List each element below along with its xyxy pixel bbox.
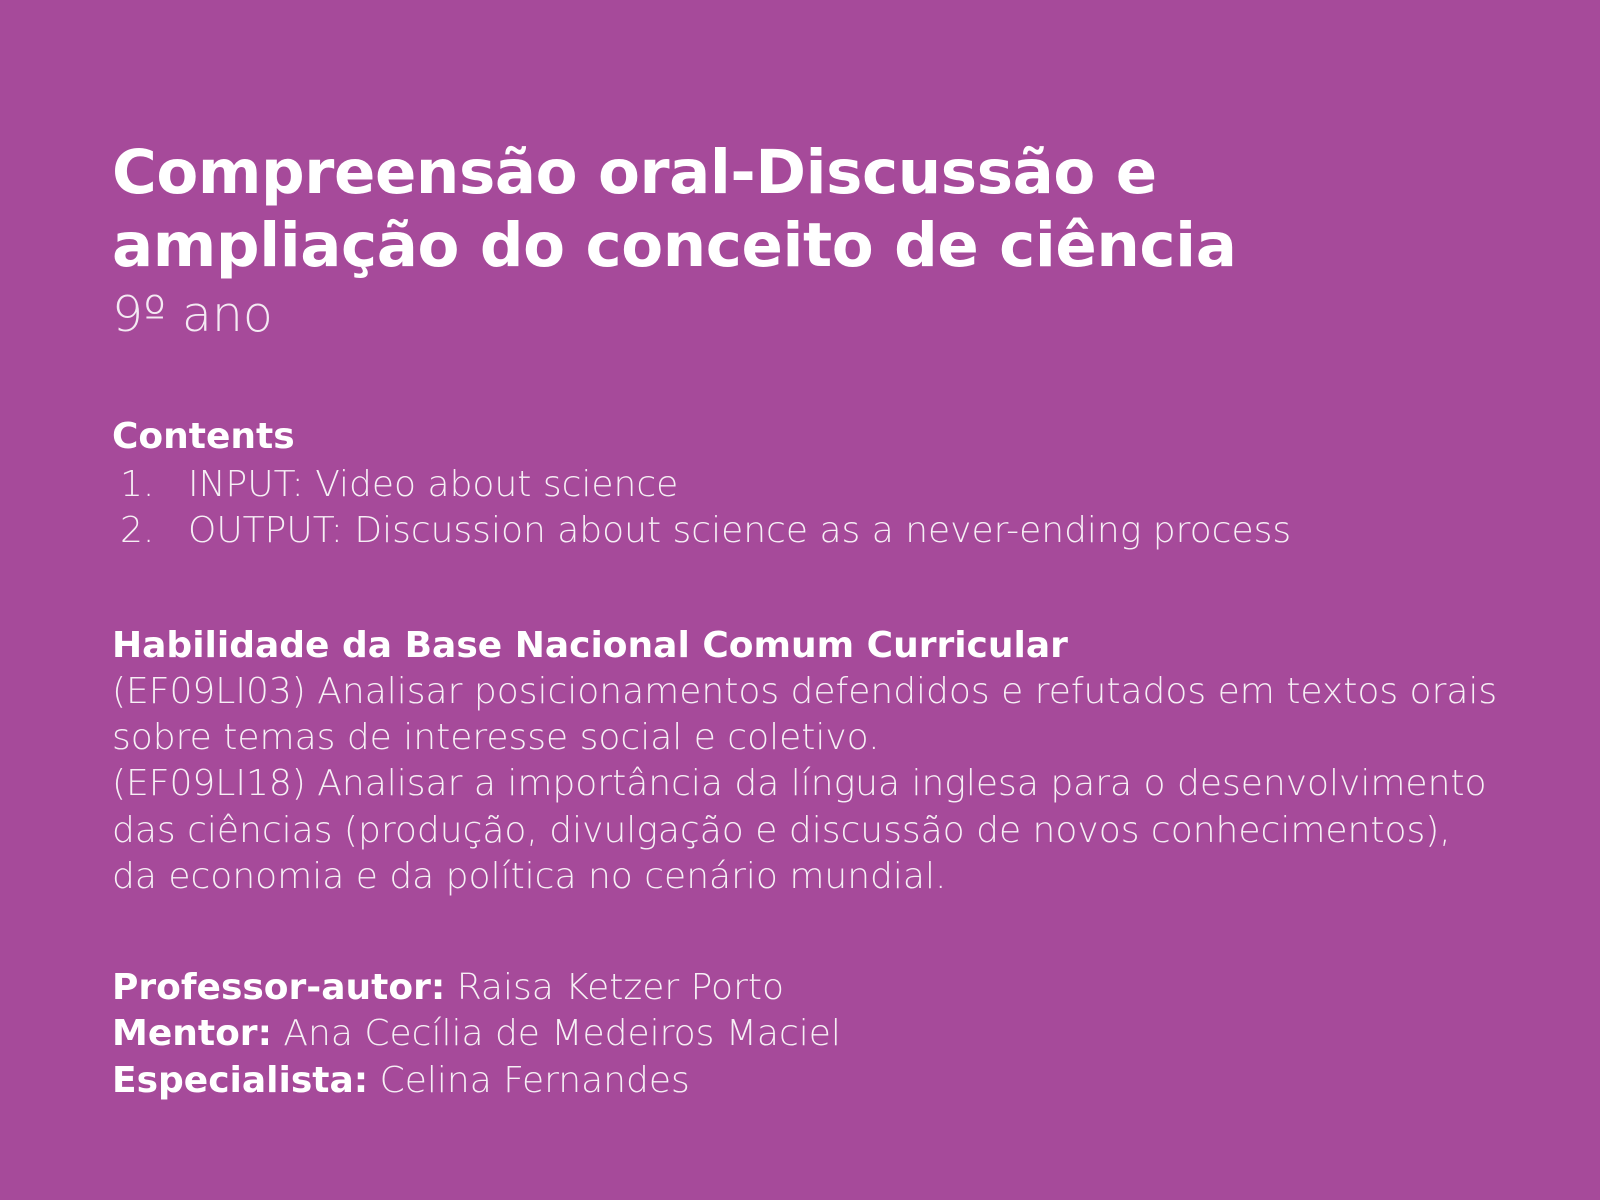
credit-name: Ana Cecília de Medeiros Maciel bbox=[283, 1013, 841, 1054]
credit-label: Especialista: bbox=[112, 1060, 368, 1101]
bncc-heading: Habilidade da Base Nacional Comum Curric… bbox=[112, 623, 1500, 668]
credit-mentor: Mentor: Ana Cecília de Medeiros Maciel bbox=[112, 1011, 1500, 1058]
bncc-skill-ef09li03: (EF09LI03) Analisar posicionamentos defe… bbox=[112, 669, 1500, 762]
page-title: Compreensão oral-Discussão e ampliação d… bbox=[112, 136, 1442, 282]
list-item: 1. INPUT: Video about science bbox=[112, 462, 1500, 509]
credits-block: Professor-autor: Raisa Ketzer Porto Ment… bbox=[112, 965, 1500, 1105]
list-item-label: INPUT: Video about science bbox=[188, 462, 1500, 509]
bncc-skill-ef09li18: (EF09LI18) Analisar a importância da lín… bbox=[112, 761, 1500, 900]
list-item-number: 1. bbox=[112, 462, 188, 509]
credit-name: Celina Fernandes bbox=[380, 1060, 690, 1101]
grade-subtitle: 9º ano bbox=[112, 286, 1500, 344]
credit-label: Mentor: bbox=[112, 1013, 272, 1054]
contents-list: 1. INPUT: Video about science 2. OUTPUT:… bbox=[112, 462, 1500, 556]
slide-root: Compreensão oral-Discussão e ampliação d… bbox=[0, 0, 1600, 1200]
credit-professor-autor: Professor-autor: Raisa Ketzer Porto bbox=[112, 965, 1500, 1012]
list-item: 2. OUTPUT: Discussion about science as a… bbox=[112, 508, 1500, 555]
credit-especialista: Especialista: Celina Fernandes bbox=[112, 1058, 1500, 1105]
list-item-label: OUTPUT: Discussion about science as a ne… bbox=[188, 508, 1500, 555]
credit-name: Raisa Ketzer Porto bbox=[457, 967, 784, 1008]
contents-heading: Contents bbox=[112, 414, 1500, 459]
credit-label: Professor-autor: bbox=[112, 967, 445, 1008]
list-item-number: 2. bbox=[112, 508, 188, 555]
